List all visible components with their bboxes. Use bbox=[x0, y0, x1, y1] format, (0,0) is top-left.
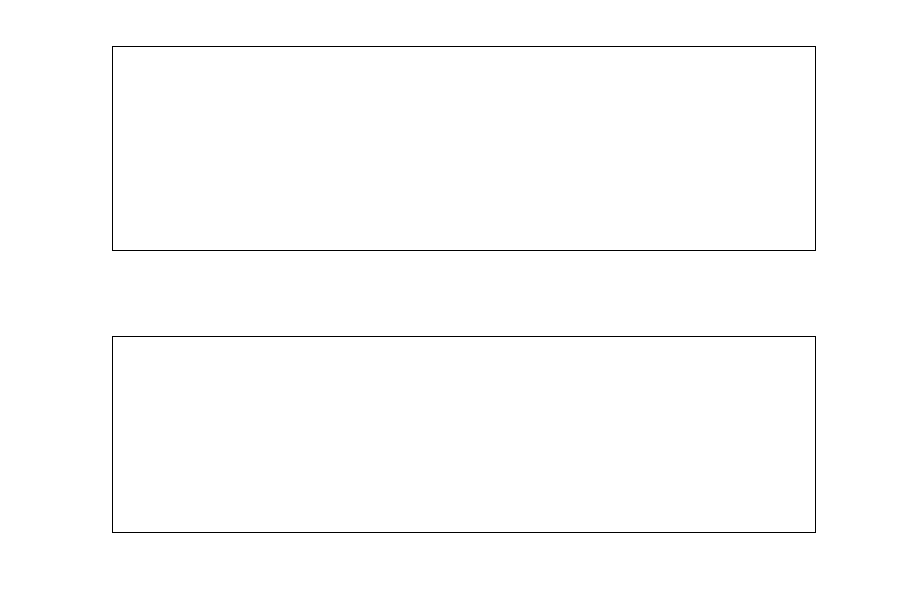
bottom-chart-svg bbox=[113, 337, 815, 532]
bottom-chart-plot-area bbox=[112, 336, 816, 533]
top-chart-svg bbox=[113, 47, 815, 250]
tidal-figure bbox=[0, 0, 900, 600]
bottom-chart-x-tick-labels bbox=[112, 537, 816, 567]
bottom-chart-y-tick-labels bbox=[0, 336, 106, 533]
top-chart-y-tick-labels bbox=[0, 46, 106, 251]
top-chart-x-tick-labels bbox=[112, 255, 816, 285]
top-chart-plot-area bbox=[112, 46, 816, 251]
